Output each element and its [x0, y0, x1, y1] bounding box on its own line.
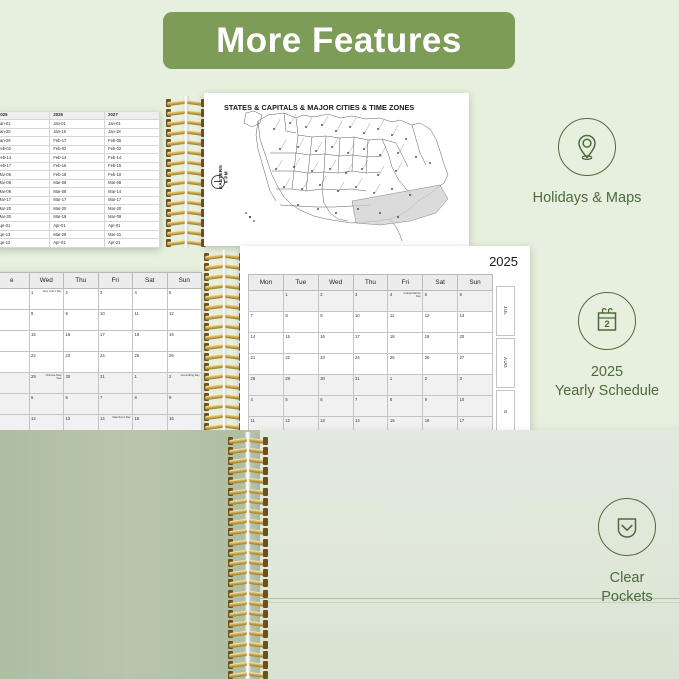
dates-col-header-2: 2027	[105, 112, 160, 120]
calendar-day-cell[interactable]: 17	[98, 331, 133, 352]
date-cell: Feb-10	[105, 171, 160, 180]
day-number: 10	[460, 397, 465, 402]
spiral-loop	[228, 538, 268, 547]
day-number: 31	[355, 376, 360, 381]
spiral-loop	[166, 208, 206, 217]
calendar-day-cell[interactable]: 9	[423, 396, 458, 417]
date-cell: Mar-30	[0, 213, 50, 222]
spiral-loop	[204, 252, 244, 261]
day-number: 3	[460, 376, 462, 381]
date-cell: Mar-08	[50, 179, 105, 188]
date-cell: Jan-01	[50, 120, 105, 129]
spiral-loop	[166, 238, 206, 247]
table-row: Feb-14Feb-14Feb-14	[0, 154, 160, 163]
map-pin-icon	[558, 118, 616, 176]
spiral-loop	[228, 620, 268, 629]
spiral-binding-middle	[204, 250, 244, 436]
spiral-binding-cover	[228, 432, 268, 679]
weekday-header-thu: Thu	[353, 275, 388, 291]
day-number: 10	[355, 313, 360, 318]
day-number: 15	[285, 334, 290, 339]
calendar-day-cell[interactable]	[0, 289, 29, 310]
day-number: 8	[135, 395, 137, 400]
day-number: 16	[66, 332, 71, 337]
date-cell: Mar-08	[0, 179, 50, 188]
calendar-day-cell[interactable]: 3	[458, 375, 493, 396]
spiral-loop	[228, 650, 268, 659]
calendar-day-cell[interactable]: 2	[423, 375, 458, 396]
spiral-loop	[228, 487, 268, 496]
calendar-day-cell[interactable]	[0, 331, 29, 352]
spiral-loop	[166, 98, 206, 107]
day-number: 1	[285, 292, 287, 297]
day-number: 15	[31, 332, 36, 337]
calendar-day-cell[interactable]: 16	[318, 333, 353, 354]
weekday-header-fri: Fri	[98, 273, 133, 289]
calendar-day-cell[interactable]: 7	[98, 394, 133, 415]
day-number: 1	[390, 376, 392, 381]
table-row: Jan-20Jan-19Jan-18	[0, 128, 160, 137]
date-cell: Apr-21	[105, 239, 160, 248]
spiral-loop	[166, 108, 206, 117]
month-tab-aug[interactable]: AUG	[496, 338, 515, 388]
day-number: 30	[66, 374, 71, 379]
day-number: 12	[31, 416, 36, 421]
right-weekday-header-row: MonTueWedThuFriSatSun	[249, 275, 493, 291]
date-cell: Feb-14	[0, 154, 50, 163]
day-number: 24	[355, 355, 360, 360]
calendar-day-cell[interactable]: 5	[283, 396, 318, 417]
day-number: 9	[320, 313, 322, 318]
spiral-loop	[228, 579, 268, 588]
day-number: 12	[169, 311, 174, 316]
weekday-header-mon: Mon	[249, 275, 284, 291]
calendar-day-cell[interactable]: 16	[64, 331, 99, 352]
spiral-loop	[228, 548, 268, 557]
spiral-loop	[228, 671, 268, 679]
cover-back-panel	[0, 430, 244, 679]
calendar-day-cell[interactable]: 2Groundhog Day	[167, 373, 202, 394]
spiral-loop	[204, 272, 244, 281]
spiral-loop	[228, 436, 268, 445]
table-row: Jan-29Feb-17Feb-06	[0, 137, 160, 146]
calendar-day-cell[interactable]: 8	[29, 310, 64, 331]
day-number: 22	[285, 355, 290, 360]
weekday-header-sun: Sun	[167, 273, 202, 289]
table-row: Mar-05Feb-18Feb-10	[0, 171, 160, 180]
calendar-day-cell[interactable]	[0, 373, 29, 394]
spiral-loop	[204, 382, 244, 391]
feature-label-yearly-schedule: 2025Yearly Schedule	[532, 363, 679, 400]
calendar-day-cell[interactable]: 18	[133, 331, 168, 352]
date-cell: Mar-20	[105, 205, 160, 214]
calendar-week-row: 28293031123	[249, 375, 493, 396]
calendar-day-cell[interactable]: 26	[167, 352, 202, 373]
day-number: 18	[135, 332, 140, 337]
day-number: 9	[169, 395, 171, 400]
date-cell: Jan-18	[105, 128, 160, 137]
date-cell: Feb-02	[105, 145, 160, 154]
spiral-loop	[166, 188, 206, 197]
date-cell: Jan-20	[0, 128, 50, 137]
spiral-loop	[204, 302, 244, 311]
spiral-loop	[228, 446, 268, 455]
calendar-week-row: 89101112	[0, 310, 202, 331]
date-cell: Mar-05	[0, 171, 50, 180]
states-map-page: STATES & CAPITALS & MAJOR CITIES & TIME …	[204, 93, 469, 246]
weekday-header-wed: Wed	[29, 273, 64, 289]
holiday-note: Independence Day	[400, 293, 421, 299]
date-cell: Feb-17	[50, 137, 105, 146]
day-number: 23	[320, 355, 325, 360]
spiral-loop	[166, 128, 206, 137]
date-cell: Feb-14	[50, 154, 105, 163]
calendar-day-cell[interactable]: 5	[167, 289, 202, 310]
spiral-loop	[204, 322, 244, 331]
day-number: 5	[425, 292, 427, 297]
day-number: 16	[425, 418, 430, 423]
calendar-day-cell[interactable]: 11	[388, 312, 423, 333]
day-number: 17	[460, 418, 465, 423]
calendar-day-cell[interactable]: 9	[64, 310, 99, 331]
date-cell: Apr-01	[50, 239, 105, 248]
date-cell: Feb-06	[105, 137, 160, 146]
spiral-loop	[228, 497, 268, 506]
left-monthly-calendar-page: eWedThuFriSatSun 1New Year's Day23458910…	[0, 272, 202, 432]
day-number: 6	[320, 397, 322, 402]
table-row: Feb-17Feb-16Feb-15	[0, 162, 160, 171]
calendar-day-cell[interactable]: 9	[318, 312, 353, 333]
spiral-binding-top	[166, 96, 206, 248]
weekday-header-tue: Tue	[283, 275, 318, 291]
day-number: 16	[169, 416, 174, 421]
date-cell: Apr-13	[0, 230, 50, 239]
spiral-loop	[228, 640, 268, 649]
spiral-loop	[204, 332, 244, 341]
day-number: 8	[390, 397, 392, 402]
spiral-loop	[166, 148, 206, 157]
calendar-day-cell[interactable]: 24	[353, 354, 388, 375]
calendar-day-cell[interactable]: 22	[29, 352, 64, 373]
day-number: 28	[251, 376, 256, 381]
date-cell: Mar-21	[105, 230, 160, 239]
calendar-icon-badge: 2	[604, 319, 609, 330]
day-number: 10	[100, 311, 105, 316]
table-header-row: 202520262027	[0, 112, 160, 120]
day-number: 25	[135, 353, 140, 358]
feature-label-line-1: 2025	[591, 364, 623, 380]
spiral-loop	[204, 392, 244, 401]
feature-label-clear-pockets: ClearPockets	[552, 569, 679, 606]
holiday-dates-page: 202520262027 Jan-01Jan-01Jan-01Jan-20Jan…	[0, 112, 160, 248]
spiral-loop	[228, 507, 268, 516]
calendar-day-cell[interactable]: 8	[133, 394, 168, 415]
day-number: 6	[66, 395, 68, 400]
spiral-loop	[228, 599, 268, 608]
day-number: 4	[390, 292, 392, 297]
spiral-loop	[228, 477, 268, 486]
day-number: 12	[285, 418, 290, 423]
day-number: 30	[320, 376, 325, 381]
date-cell: Feb-18	[50, 171, 105, 180]
date-cell: Mar-09	[105, 213, 160, 222]
calendar-day-cell[interactable]: 7	[353, 396, 388, 417]
day-number: 18	[390, 334, 395, 339]
calendar-day-cell[interactable]: 19	[423, 333, 458, 354]
day-number: 31	[100, 374, 105, 379]
calendar-day-cell[interactable]: 24	[98, 352, 133, 373]
calendar-day-cell[interactable]: 31	[353, 375, 388, 396]
calendar-day-cell[interactable]: 12	[423, 312, 458, 333]
calendar-day-cell[interactable]: 5	[423, 291, 458, 312]
day-number: 16	[320, 334, 325, 339]
calendar-day-cell[interactable]: 29Chinese New Year	[29, 373, 64, 394]
calendar-day-cell[interactable]: 1	[283, 291, 318, 312]
table-row: Jan-01Jan-01Jan-01	[0, 120, 160, 129]
day-number: 6	[460, 292, 462, 297]
calendar-day-cell[interactable]: 4	[249, 396, 284, 417]
calendar-day-cell[interactable]: 7	[249, 312, 284, 333]
day-number: 1	[135, 374, 137, 379]
spiral-loop	[166, 228, 206, 237]
spiral-loop	[166, 218, 206, 227]
left-weekday-header-row: eWedThuFriSatSun	[0, 273, 202, 289]
day-number: 29	[31, 374, 36, 379]
day-number: 21	[251, 355, 256, 360]
calendar-day-cell[interactable]: 25	[388, 354, 423, 375]
spiral-loop	[204, 342, 244, 351]
calendar-week-row: 1New Year's Day2345	[0, 289, 202, 310]
month-tab-jul[interactable]: JUL	[496, 286, 515, 336]
day-number: 3	[355, 292, 357, 297]
calendar-day-cell[interactable]: 10	[353, 312, 388, 333]
calendar-day-cell[interactable]: 23	[64, 352, 99, 373]
feature-holidays-maps: Holidays & Maps	[512, 118, 662, 208]
calendar-day-cell[interactable]: 3	[353, 291, 388, 312]
date-cell: Mar-17	[50, 196, 105, 205]
date-cell: Feb-17	[0, 162, 50, 171]
calendar-day-cell[interactable]: 20	[458, 333, 493, 354]
spiral-loop	[228, 660, 268, 669]
day-number: 13	[460, 313, 465, 318]
day-number: 19	[425, 334, 430, 339]
date-cell: Apr-12	[0, 239, 50, 248]
calendar-day-cell[interactable]: 23	[318, 354, 353, 375]
calendar-day-cell[interactable]: 10	[458, 396, 493, 417]
weekday-header-thu: Thu	[64, 273, 99, 289]
date-cell: Mar-17	[105, 196, 160, 205]
day-number: 2	[66, 290, 68, 295]
calendar-day-cell[interactable]: 13	[458, 312, 493, 333]
table-row: Mar-08Mar-08Mar-08	[0, 179, 160, 188]
calendar-day-cell[interactable]: 15	[283, 333, 318, 354]
date-cell: Mar-14	[105, 188, 160, 197]
dates-col-header-1: 2026	[50, 112, 105, 120]
date-cell: Mar-08	[50, 188, 105, 197]
weekday-header-fri: Fri	[388, 275, 423, 291]
calendar-day-cell[interactable]: 6	[458, 291, 493, 312]
calendar-week-row: 56789	[0, 394, 202, 415]
date-cell: Feb-14	[105, 154, 160, 163]
table-row: Apr-12Apr-01Apr-21	[0, 239, 160, 248]
calendar-week-row: 21222324252627	[249, 354, 493, 375]
timezone-label: EASTERN6 PM	[218, 165, 229, 189]
day-number: 4	[135, 290, 137, 295]
day-number: 13	[320, 418, 325, 423]
day-number: 2	[169, 374, 171, 379]
spiral-loop	[166, 118, 206, 127]
table-row: Mar-17Mar-17Mar-17	[0, 196, 160, 205]
date-cell: Mar-17	[0, 196, 50, 205]
date-cell: Mar-08	[105, 179, 160, 188]
table-row: Mar-30Mar-19Mar-09	[0, 213, 160, 222]
spiral-loop	[204, 312, 244, 321]
date-cell: Feb-02	[50, 145, 105, 154]
date-cell: Feb-02	[0, 145, 50, 154]
date-cell: Jan-01	[105, 120, 160, 129]
calendar-day-cell[interactable]: 27	[458, 354, 493, 375]
spiral-loop	[228, 558, 268, 567]
day-number: 13	[66, 416, 71, 421]
banner-title: More Features	[216, 21, 462, 61]
spiral-loop	[166, 178, 206, 187]
table-row: Apr-13Mar-29Mar-21	[0, 230, 160, 239]
calendar-day-cell[interactable]: 6	[318, 396, 353, 417]
date-cell: Mar-29	[50, 230, 105, 239]
calendar-day-cell[interactable]: 14	[249, 333, 284, 354]
day-number: 2	[320, 292, 322, 297]
day-number: 26	[169, 353, 174, 358]
calendar-day-cell[interactable]: 1	[388, 375, 423, 396]
calendar-day-cell[interactable]	[0, 352, 29, 373]
day-number: 9	[425, 397, 427, 402]
day-number: 25	[390, 355, 395, 360]
calendar-day-cell[interactable]: 2	[64, 289, 99, 310]
calendar-day-cell[interactable]: 18	[388, 333, 423, 354]
calendar-day-cell[interactable]: 25	[133, 352, 168, 373]
table-row: Feb-02Feb-02Feb-02	[0, 145, 160, 154]
spiral-loop	[204, 402, 244, 411]
day-number: 4	[251, 397, 253, 402]
calendar-day-cell[interactable]: 4	[133, 289, 168, 310]
spiral-loop	[228, 518, 268, 527]
spiral-loop	[228, 456, 268, 465]
calendar-day-cell[interactable]: 19	[167, 331, 202, 352]
more-features-banner: More Features	[163, 12, 515, 69]
calendar-day-cell[interactable]: 17	[353, 333, 388, 354]
calendar-day-cell[interactable]	[0, 394, 29, 415]
calendar-day-cell[interactable]: 2	[318, 291, 353, 312]
date-cell: Feb-16	[50, 162, 105, 171]
feature-label-holidays-maps: Holidays & Maps	[512, 189, 662, 208]
day-number: 26	[425, 355, 430, 360]
holiday-note: Groundhog Day	[181, 375, 200, 378]
spiral-loop	[204, 362, 244, 371]
day-number: 7	[100, 395, 102, 400]
pocket-chevron-icon	[598, 498, 656, 556]
calendar-week-row: 1516171819	[0, 331, 202, 352]
calendar-day-cell[interactable]: 28	[249, 375, 284, 396]
table-row: Apr-01Apr-01Apr-01	[0, 222, 160, 231]
spiral-loop	[204, 292, 244, 301]
calendar-day-cell[interactable]	[249, 291, 284, 312]
date-cell: Feb-15	[105, 162, 160, 171]
day-number: 22	[31, 353, 36, 358]
calendar-day-cell[interactable]: 9	[167, 394, 202, 415]
spiral-loop	[228, 630, 268, 639]
date-cell: Apr-01	[50, 222, 105, 231]
day-number: 19	[169, 332, 174, 337]
holiday-dates-table: 202520262027 Jan-01Jan-01Jan-01Jan-20Jan…	[0, 112, 160, 248]
holiday-note: New Year's Day	[43, 291, 62, 294]
calendar-day-cell[interactable]: 30	[64, 373, 99, 394]
calendar-day-cell[interactable]: 1	[133, 373, 168, 394]
spiral-loop	[228, 609, 268, 618]
spiral-loop	[166, 138, 206, 147]
spiral-loop	[228, 467, 268, 476]
weekday-header-sat: Sat	[423, 275, 458, 291]
table-row: Mar-20Mar-20Mar-20	[0, 205, 160, 214]
day-number: 29	[285, 376, 290, 381]
day-number: 20	[460, 334, 465, 339]
calendar-day-cell[interactable]: 8	[283, 312, 318, 333]
calendar-day-cell[interactable]: 29	[283, 375, 318, 396]
calendar-day-cell[interactable]: 6	[64, 394, 99, 415]
day-number: 15	[390, 418, 395, 423]
day-number: 5	[169, 290, 171, 295]
month-tab-sep[interactable]: S	[496, 390, 515, 434]
calendar-day-cell[interactable]: 10	[98, 310, 133, 331]
day-number: 27	[460, 355, 465, 360]
calendar-day-cell[interactable]: 30	[318, 375, 353, 396]
calendar-day-cell[interactable]: 4Independence Day	[388, 291, 423, 312]
calendar-day-cell[interactable]: 12	[167, 310, 202, 331]
calendar-week-row: 1234Independence Day56	[249, 291, 493, 312]
date-cell: Mar-09	[0, 188, 50, 197]
calendar-day-cell[interactable]: 1New Year's Day	[29, 289, 64, 310]
calendar-day-cell[interactable]: 8	[388, 396, 423, 417]
calendar-day-cell[interactable]: 3	[98, 289, 133, 310]
calendar-day-cell[interactable]: 31	[98, 373, 133, 394]
calendar-day-cell[interactable]: 22	[283, 354, 318, 375]
calendar-day-cell[interactable]	[0, 310, 29, 331]
calendar-day-cell[interactable]: 11	[133, 310, 168, 331]
day-number: 1	[31, 290, 33, 295]
calendar-day-cell[interactable]: 15	[29, 331, 64, 352]
calendar-week-row: 45678910	[249, 396, 493, 417]
day-number: 7	[251, 313, 253, 318]
calendar-day-cell[interactable]: 21	[249, 354, 284, 375]
day-number: 8	[285, 313, 287, 318]
day-number: 11	[251, 418, 255, 423]
feature-clear-pockets: ClearPockets	[552, 498, 679, 606]
spiral-loop	[204, 352, 244, 361]
calendar-day-cell[interactable]: 5	[29, 394, 64, 415]
holiday-note: Valentine's Day	[112, 417, 130, 420]
day-number: 14	[100, 416, 105, 421]
product-feature-composite: More Features 202520262027 Jan-01Jan-01J…	[0, 0, 679, 679]
spiral-loop	[166, 168, 206, 177]
holiday-note: Chinese New Year	[41, 375, 62, 381]
spiral-loop	[204, 372, 244, 381]
day-number: 5	[31, 395, 33, 400]
calendar-week-row: 2223242526	[0, 352, 202, 373]
date-cell: Mar-20	[50, 205, 105, 214]
day-number: 17	[100, 332, 105, 337]
calendar-day-cell[interactable]: 26	[423, 354, 458, 375]
day-number: 8	[31, 311, 33, 316]
day-number: 23	[66, 353, 71, 358]
